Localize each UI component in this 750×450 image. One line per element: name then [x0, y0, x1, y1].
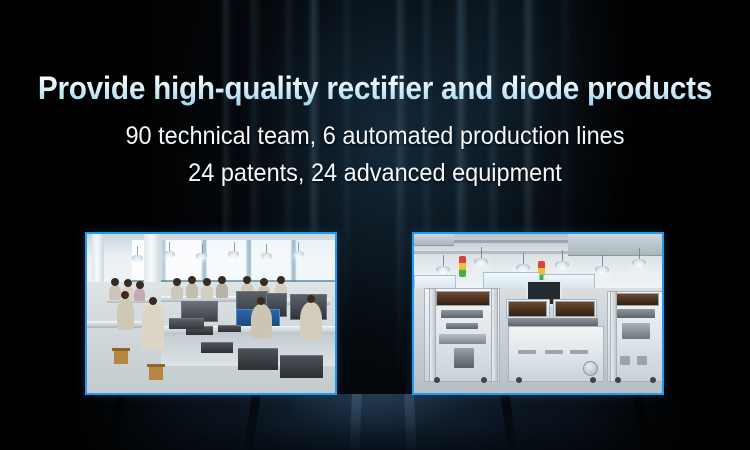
page-title: Provide high-quality rectifier and diode…: [26, 68, 724, 108]
floor-surface: [0, 394, 750, 450]
subtitle-line-1: 90 technical team, 6 automated productio…: [23, 120, 728, 152]
promotional-banner: Provide high-quality rectifier and diode…: [0, 0, 750, 450]
photo-assembly-workshop: [85, 232, 337, 395]
subtitle-line-2: 24 patents, 24 advanced equipment: [23, 157, 728, 189]
photo-automated-production-line: [412, 232, 664, 395]
